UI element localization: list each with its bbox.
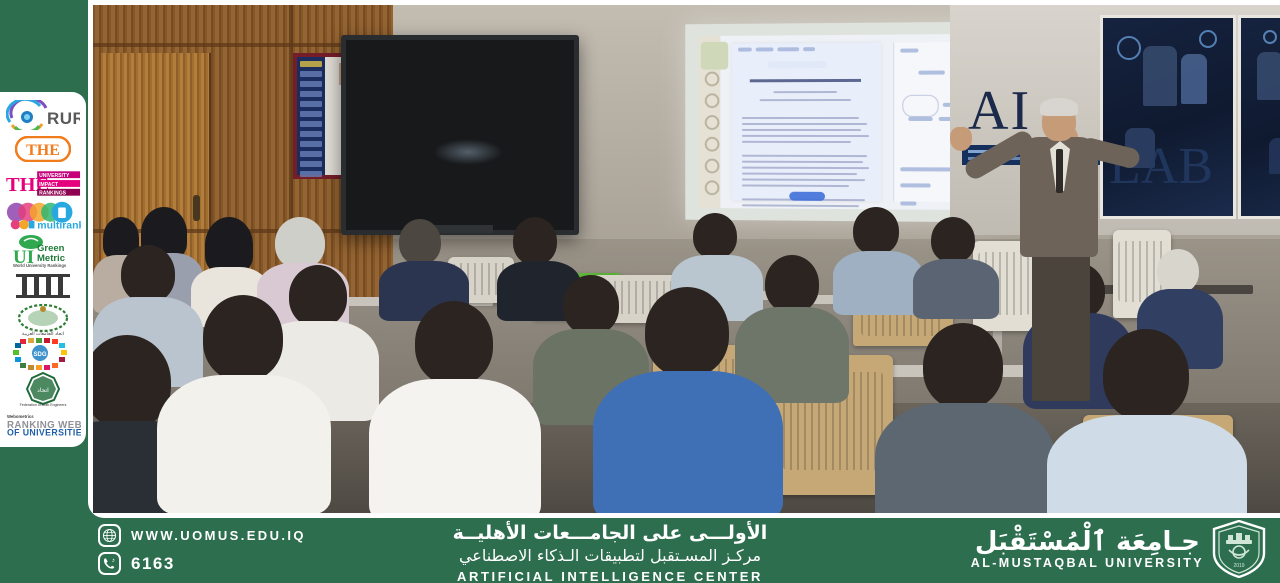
ranking-logo-sdg: SDG [5, 337, 81, 371]
wall-mounted-display [341, 35, 579, 235]
event-photograph: AI LAB [93, 5, 1280, 513]
presenter-trousers [1032, 251, 1090, 401]
svg-text:Webometrics: Webometrics [7, 414, 34, 419]
footer-tagline-ar: الأولـــى على الجامـــعات الأهليــة [330, 522, 890, 546]
presenter-hair [1040, 98, 1078, 116]
ranking-logo-aaru: اتحاد الجامعات العربية [5, 303, 81, 337]
projection-screen [685, 22, 995, 223]
projection-surface [699, 34, 985, 210]
footer-center-name-ar: مركـز المسـتقبل لتطبيقات الـذكاء الاصطنا… [330, 546, 890, 567]
ranking-logo-the-impact: THE UNIVERSITY IMPACT RANKINGS [5, 166, 81, 200]
website-row[interactable]: WWW.UOMUS.EDU.IQ [98, 524, 306, 547]
footer-brand-block: جـامِعَة ٱلْمُسْتَقْبَل AL-MUSTAQBAL UNI… [971, 520, 1266, 578]
phone-row[interactable]: 6163 [98, 552, 306, 575]
svg-text:UNIVERSITY: UNIVERSITY [39, 173, 70, 179]
projected-primary-button [789, 192, 825, 201]
rankings-rail: RUR THE THE UNIVERSITY IMPACT RANKINGS [0, 92, 86, 447]
footer-bar: WWW.UOMUS.EDU.IQ 6163 الأولـــى على الجا… [0, 518, 1280, 583]
phone-icon [98, 552, 121, 575]
ranking-logo-the: THE [5, 132, 81, 166]
ai-lab-poster-right [1238, 15, 1280, 219]
svg-text:RUR: RUR [47, 109, 80, 128]
svg-text:اتحاد: اتحاد [37, 387, 49, 394]
projected-crest [701, 42, 728, 70]
event-photo-frame: AI LAB [88, 0, 1280, 518]
globe-www-icon [98, 524, 121, 547]
university-crest-icon: 2019 [1212, 520, 1266, 578]
page-root: RUR THE THE UNIVERSITY IMPACT RANKINGS [0, 0, 1280, 583]
projected-document-page [732, 43, 881, 202]
presenter-left-hand [950, 127, 972, 151]
ranking-logo-arab-engineers: اتحاد Federation of Arab Engineers [5, 371, 81, 407]
footer-center-name-en: ARTIFICIAL INTELLIGENCE CENTER [330, 567, 890, 583]
display-glare [433, 139, 503, 165]
projected-doc-toolbar [736, 47, 877, 54]
ranking-logo-pillars [5, 269, 81, 303]
projected-search-box [768, 61, 827, 68]
svg-text:RANKINGS: RANKINGS [39, 191, 67, 197]
presenter-tie [1056, 149, 1063, 193]
svg-text:2019: 2019 [1233, 563, 1244, 569]
presenter [998, 101, 1118, 401]
svg-text:IMPACT: IMPACT [39, 182, 59, 188]
poster-side-column [297, 57, 325, 175]
footer-center-block: الأولـــى على الجامـــعات الأهليــة مركـ… [330, 522, 890, 583]
svg-text:multirank: multirank [37, 221, 81, 232]
projected-doc-title [750, 79, 861, 82]
brand-name-ar: جـامِعَة ٱلْمُسْتَقْبَل [971, 528, 1204, 557]
website-label: WWW.UOMUS.EDU.IQ [131, 528, 306, 543]
brand-name-en: AL-MUSTAQBAL UNIVERSITY [971, 556, 1204, 570]
footer-contact-block: WWW.UOMUS.EDU.IQ 6163 [98, 524, 306, 575]
ranking-logo-umultirank: multirank [5, 200, 81, 234]
phone-label: 6163 [131, 554, 175, 574]
svg-text:SDG: SDG [33, 352, 46, 358]
door-handle [193, 195, 200, 221]
svg-text:OF UNIVERSITIES: OF UNIVERSITIES [7, 428, 81, 437]
ranking-logo-ui-greenmetric: UI Green Metric World University Ranking… [5, 234, 81, 268]
projected-assistant-pill [902, 95, 938, 117]
ranking-logo-webometrics: Webometrics RANKING WEB OF UNIVERSITIES [5, 407, 81, 441]
ai-lab-poster-left: LAB [1100, 15, 1236, 219]
brand-text: جـامِعَة ٱلْمُسْتَقْبَل AL-MUSTAQBAL UNI… [971, 528, 1204, 571]
svg-text:THE: THE [26, 142, 60, 159]
ranking-logo-rur: RUR [5, 98, 81, 132]
